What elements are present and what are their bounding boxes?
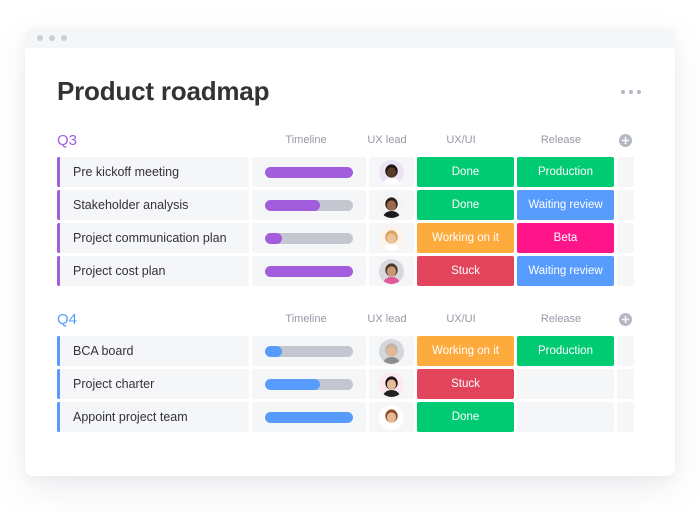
timeline-track [265, 412, 353, 423]
timeline-fill [265, 233, 282, 244]
cell-ux-lead[interactable] [369, 223, 414, 253]
cell-ux-lead[interactable] [369, 402, 414, 432]
table-row[interactable]: Project cost plan StuckWaiting review [57, 256, 643, 286]
cell-release-status[interactable]: Waiting review [517, 256, 614, 286]
avatar [379, 160, 404, 185]
cell-release-status[interactable]: Production [517, 336, 614, 366]
cell-release-status[interactable] [517, 402, 614, 432]
cell-extra[interactable] [617, 369, 634, 399]
cell-release-status[interactable]: Production [517, 157, 614, 187]
cell-extra[interactable] [617, 402, 634, 432]
row-name[interactable]: BCA board [60, 336, 249, 366]
cell-timeline[interactable] [252, 157, 366, 187]
cell-ux-ui-status[interactable]: Done [417, 190, 514, 220]
timeline-fill [265, 346, 282, 357]
cell-extra[interactable] [617, 336, 634, 366]
cell-ux-ui-status[interactable]: Stuck [417, 256, 514, 286]
group-q4: Q4TimelineUX leadUX/UIReleaseBCA board W… [47, 308, 653, 432]
group-header: Q3TimelineUX leadUX/UIRelease [57, 129, 643, 151]
column-header-release[interactable]: Release [511, 313, 611, 325]
cell-release-status[interactable]: Waiting review [517, 190, 614, 220]
group-title[interactable]: Q4 [57, 311, 249, 328]
avatar [379, 259, 404, 284]
table-row[interactable]: BCA board Working on itProduction [57, 336, 643, 366]
group-header: Q4TimelineUX leadUX/UIRelease [57, 308, 643, 330]
cell-extra[interactable] [617, 223, 634, 253]
cell-extra[interactable] [617, 157, 634, 187]
timeline-track [265, 379, 353, 390]
row-name[interactable]: Project cost plan [60, 256, 249, 286]
window-title-bar [25, 28, 675, 48]
cell-ux-ui-status[interactable]: Stuck [417, 369, 514, 399]
row-name[interactable]: Appoint project team [60, 402, 249, 432]
cell-timeline[interactable] [252, 336, 366, 366]
avatar [379, 405, 404, 430]
cell-ux-lead[interactable] [369, 369, 414, 399]
row-name[interactable]: Project communication plan [60, 223, 249, 253]
cell-release-status[interactable] [517, 369, 614, 399]
ellipsis-icon[interactable] [619, 84, 643, 100]
cell-extra[interactable] [617, 190, 634, 220]
cell-release-status[interactable]: Beta [517, 223, 614, 253]
table-row[interactable]: Pre kickoff meeting DoneProduction [57, 157, 643, 187]
ellipsis-dot-1 [621, 90, 625, 94]
cell-timeline[interactable] [252, 223, 366, 253]
board-card: Product roadmap Q3TimelineUX leadUX/UIRe… [25, 48, 675, 476]
table-row[interactable]: Stakeholder analysis DoneWaiting review [57, 190, 643, 220]
cell-timeline[interactable] [252, 402, 366, 432]
timeline-fill [265, 167, 353, 178]
groups-container: Q3TimelineUX leadUX/UIReleasePre kickoff… [47, 129, 653, 432]
column-header-timeline[interactable]: Timeline [249, 313, 363, 325]
column-header-release[interactable]: Release [511, 134, 611, 146]
timeline-fill [265, 379, 320, 390]
window-dot-2[interactable] [49, 35, 55, 41]
avatar [379, 372, 404, 397]
ellipsis-dot-3 [637, 90, 641, 94]
timeline-track [265, 167, 353, 178]
table-row[interactable]: Project communication plan Working on it… [57, 223, 643, 253]
page-header: Product roadmap [47, 48, 653, 107]
timeline-track [265, 200, 353, 211]
table-row[interactable]: Project charter Stuck [57, 369, 643, 399]
avatar [379, 226, 404, 251]
ellipsis-dot-2 [629, 90, 633, 94]
timeline-fill [265, 412, 353, 423]
window-dot-1[interactable] [37, 35, 43, 41]
cell-timeline[interactable] [252, 369, 366, 399]
column-header-timeline[interactable]: Timeline [249, 134, 363, 146]
table-row[interactable]: Appoint project team Done [57, 402, 643, 432]
row-name[interactable]: Project charter [60, 369, 249, 399]
group-title[interactable]: Q3 [57, 132, 249, 149]
group-q3: Q3TimelineUX leadUX/UIReleasePre kickoff… [47, 129, 653, 286]
avatar [379, 193, 404, 218]
cell-ux-ui-status[interactable]: Working on it [417, 336, 514, 366]
app-window: Product roadmap Q3TimelineUX leadUX/UIRe… [25, 28, 675, 476]
cell-ux-lead[interactable] [369, 190, 414, 220]
timeline-track [265, 266, 353, 277]
cell-ux-lead[interactable] [369, 157, 414, 187]
column-header-ux-lead[interactable]: UX lead [363, 134, 411, 146]
timeline-fill [265, 266, 353, 277]
cell-extra[interactable] [617, 256, 634, 286]
group-rows: BCA board Working on itProductionProject… [57, 336, 643, 432]
plus-circle-icon[interactable] [615, 134, 635, 147]
timeline-fill [265, 200, 320, 211]
avatar [379, 339, 404, 364]
row-name[interactable]: Stakeholder analysis [60, 190, 249, 220]
window-dot-3[interactable] [61, 35, 67, 41]
cell-ux-ui-status[interactable]: Working on it [417, 223, 514, 253]
cell-timeline[interactable] [252, 256, 366, 286]
group-rows: Pre kickoff meeting DoneProductionStakeh… [57, 157, 643, 286]
column-header-ux-ui[interactable]: UX/UI [411, 134, 511, 146]
column-header-ux-lead[interactable]: UX lead [363, 313, 411, 325]
plus-circle-icon[interactable] [615, 313, 635, 326]
cell-ux-lead[interactable] [369, 256, 414, 286]
page-title: Product roadmap [57, 76, 269, 107]
row-name[interactable]: Pre kickoff meeting [60, 157, 249, 187]
timeline-track [265, 233, 353, 244]
cell-ux-ui-status[interactable]: Done [417, 157, 514, 187]
cell-ux-ui-status[interactable]: Done [417, 402, 514, 432]
timeline-track [265, 346, 353, 357]
column-header-ux-ui[interactable]: UX/UI [411, 313, 511, 325]
cell-timeline[interactable] [252, 190, 366, 220]
cell-ux-lead[interactable] [369, 336, 414, 366]
